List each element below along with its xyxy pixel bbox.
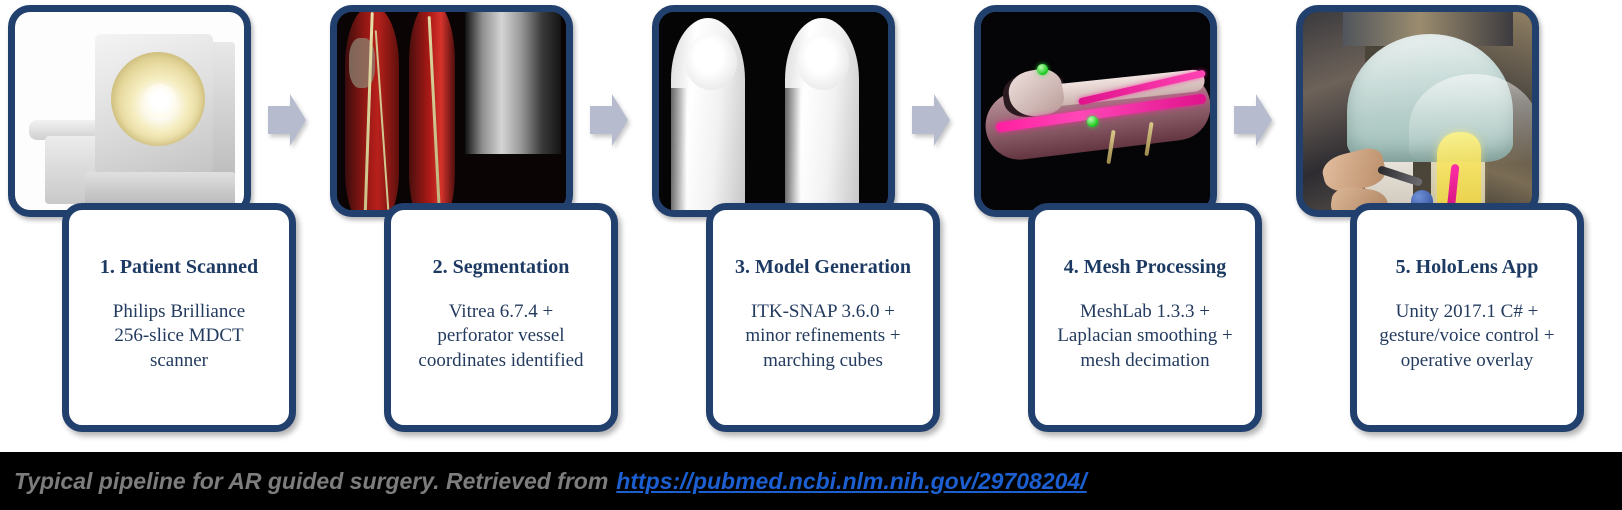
ct-floor-base	[85, 172, 235, 206]
stage-1-text-card: 1. Patient Scanned Philips Brilliance 25…	[62, 203, 296, 432]
stage-3-title: 3. Model Generation	[735, 256, 911, 278]
model-leg-right-shading	[785, 88, 801, 210]
stage-3-text-card: 3. Model Generation ITK-SNAP 3.6.0 + min…	[706, 203, 940, 432]
stage-3-body: ITK-SNAP 3.6.0 + minor refinements + mar…	[745, 300, 900, 373]
model-knee-right	[797, 34, 849, 90]
stage-5-text-card: 5. HoloLens App Unity 2017.1 C# + gestur…	[1350, 203, 1584, 432]
model-knee-left	[685, 34, 737, 90]
pipeline-stage-1: 1. Patient Scanned Philips Brilliance 25…	[0, 0, 320, 452]
arrow-stage-3-to-4	[910, 92, 952, 148]
model-leg-right	[785, 18, 859, 210]
operating-room-ar-overlay-photo	[1303, 12, 1532, 210]
stage-2-text-card: 2. Segmentation Vitrea 6.7.4 + perforato…	[384, 203, 618, 432]
mesh-green-marker-2	[1087, 116, 1098, 127]
stage-5-body: Unity 2017.1 C# + gesture/voice control …	[1379, 300, 1554, 373]
arrow-stage-1-to-2	[266, 92, 308, 148]
figure-root: 1. Patient Scanned Philips Brilliance 25…	[0, 0, 1622, 510]
caption-label: Typical pipeline for AR guided surgery. …	[0, 468, 608, 495]
stage-1-body: Philips Brilliance 256-slice MDCT scanne…	[113, 300, 245, 373]
stage-5-title: 5. HoloLens App	[1396, 256, 1539, 278]
stage-4-title: 4. Mesh Processing	[1064, 256, 1226, 278]
stage-4-text-card: 4. Mesh Processing MeshLab 1.3.3 + Lapla…	[1028, 203, 1262, 432]
source-url-link[interactable]: https://pubmed.ncbi.nlm.nih.gov/29708204…	[616, 468, 1086, 495]
processed-mesh-render	[981, 12, 1210, 210]
pipeline-stage-3: 3. Model Generation ITK-SNAP 3.6.0 + min…	[644, 0, 964, 452]
stage-2-image-frame	[330, 5, 573, 217]
arrow-stage-2-to-3	[588, 92, 630, 148]
stage-4-image-frame	[974, 5, 1217, 217]
stage-1-title: 1. Patient Scanned	[100, 256, 258, 278]
3d-leg-model-render	[659, 12, 888, 210]
vessel-segmentation-image	[337, 12, 566, 210]
stage-5-image-frame	[1296, 5, 1539, 217]
stage-3-image-frame	[652, 5, 895, 217]
pipeline-stage-5: 5. HoloLens App Unity 2017.1 C# + gestur…	[1288, 0, 1608, 452]
ct-scanner-photo	[15, 12, 244, 210]
pipeline-diagram: 1. Patient Scanned Philips Brilliance 25…	[0, 0, 1622, 452]
ct-bore-opening	[143, 84, 177, 118]
caption-bar: Typical pipeline for AR guided surgery. …	[0, 452, 1622, 510]
pipeline-stage-2: 2. Segmentation Vitrea 6.7.4 + perforato…	[322, 0, 642, 452]
stage-4-body: MeshLab 1.3.3 + Laplacian smoothing + me…	[1057, 300, 1232, 373]
seg-ct-slice-strip	[465, 12, 561, 154]
or-ar-hologram-overlay	[1437, 132, 1481, 210]
model-leg-left-shading	[671, 88, 687, 210]
pipeline-stage-4: 4. Mesh Processing MeshLab 1.3.3 + Lapla…	[966, 0, 1286, 452]
stage-1-image-frame	[8, 5, 251, 217]
mesh-green-marker-1	[1037, 64, 1048, 75]
stage-2-title: 2. Segmentation	[433, 256, 570, 278]
stage-2-body: Vitrea 6.7.4 + perforator vessel coordin…	[418, 300, 583, 373]
arrow-stage-4-to-5	[1232, 92, 1274, 148]
model-leg-left	[671, 18, 745, 210]
